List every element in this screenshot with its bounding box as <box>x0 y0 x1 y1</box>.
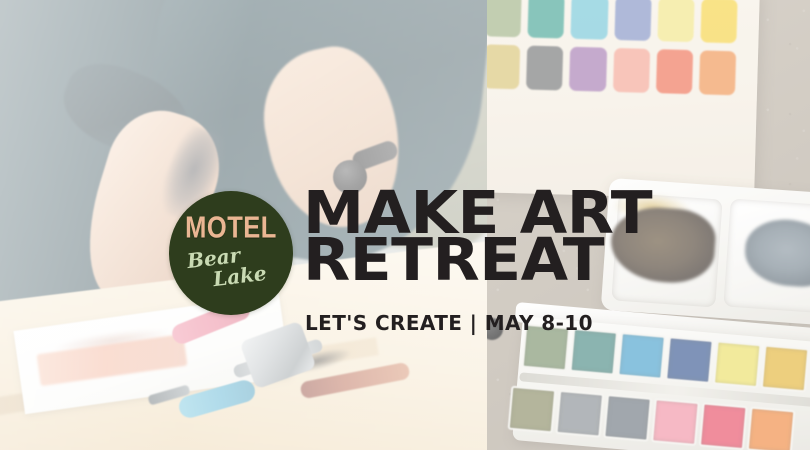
logo-brand-text: MOTEL <box>185 213 277 244</box>
motel-bear-lake-logo: MOTEL Bear Lake <box>169 191 293 315</box>
headline-line-2: RETREAT <box>303 236 652 283</box>
logo-script-text: Bear Lake <box>185 248 277 292</box>
logo-script-word-lake: Lake <box>212 263 268 289</box>
make-art-retreat-banner: MOTEL Bear Lake MAKE ART RETREAT LET'S C… <box>0 0 810 450</box>
event-subtitle: LET'S CREATE | MAY 8-10 <box>305 311 593 335</box>
headline: MAKE ART RETREAT <box>303 189 639 283</box>
banner-content: MOTEL Bear Lake MAKE ART RETREAT LET'S C… <box>0 0 810 450</box>
